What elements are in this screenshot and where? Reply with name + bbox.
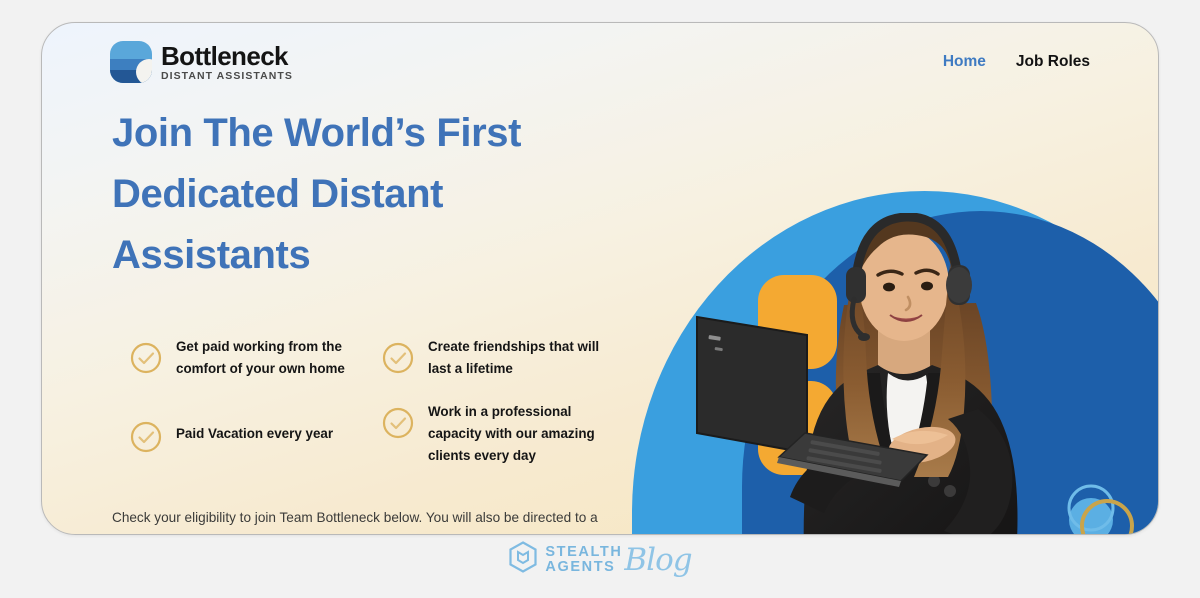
benefit-label: Get paid working from the comfort of you…: [176, 328, 361, 379]
circle-check-icon: [382, 407, 414, 439]
benefit-label: Create friendships that will last a life…: [428, 328, 613, 379]
benefit-label: Paid Vacation every year: [176, 415, 333, 445]
benefit-item: Paid Vacation every year: [130, 393, 378, 466]
nav-link-home[interactable]: Home: [943, 53, 986, 71]
watermark-line2: AGENTS: [545, 560, 622, 575]
watermark: STEALTH AGENTS Blog: [0, 541, 1200, 578]
hero-copy: Join The World’s First Dedicated Distant…: [112, 103, 672, 285]
watermark-script: Blog: [624, 542, 691, 578]
site-header: Bottleneck DISTANT ASSISTANTS Home Job R…: [42, 23, 1158, 101]
laptop: [687, 305, 947, 490]
circle-check-icon: [130, 342, 162, 374]
page-title: Join The World’s First Dedicated Distant…: [112, 103, 592, 285]
brand-tagline: DISTANT ASSISTANTS: [161, 71, 293, 82]
brand-name: Bottleneck: [161, 43, 293, 69]
watermark-line1: STEALTH: [545, 545, 622, 560]
circle-check-icon: [382, 342, 414, 374]
benefit-item: Work in a professional capacity with our…: [382, 393, 630, 466]
main-nav: Home Job Roles: [943, 53, 1098, 71]
hero-card: Bottleneck DISTANT ASSISTANTS Home Job R…: [41, 22, 1159, 535]
screenshot-root: Bottleneck DISTANT ASSISTANTS Home Job R…: [0, 0, 1200, 598]
benefit-item: Get paid working from the comfort of you…: [130, 328, 378, 379]
bottleneck-logo-icon: [110, 41, 152, 83]
brand-logo[interactable]: Bottleneck DISTANT ASSISTANTS: [110, 41, 293, 83]
eligibility-note: Check your eligibility to join Team Bott…: [112, 506, 612, 535]
stealth-agents-hexagon-icon: [508, 541, 538, 578]
benefits-list: Get paid working from the comfort of you…: [130, 328, 670, 467]
benefit-item: Create friendships that will last a life…: [382, 328, 630, 379]
nav-link-job-roles[interactable]: Job Roles: [1016, 53, 1090, 71]
benefit-label: Work in a professional capacity with our…: [428, 393, 613, 466]
circle-check-icon: [130, 421, 162, 453]
